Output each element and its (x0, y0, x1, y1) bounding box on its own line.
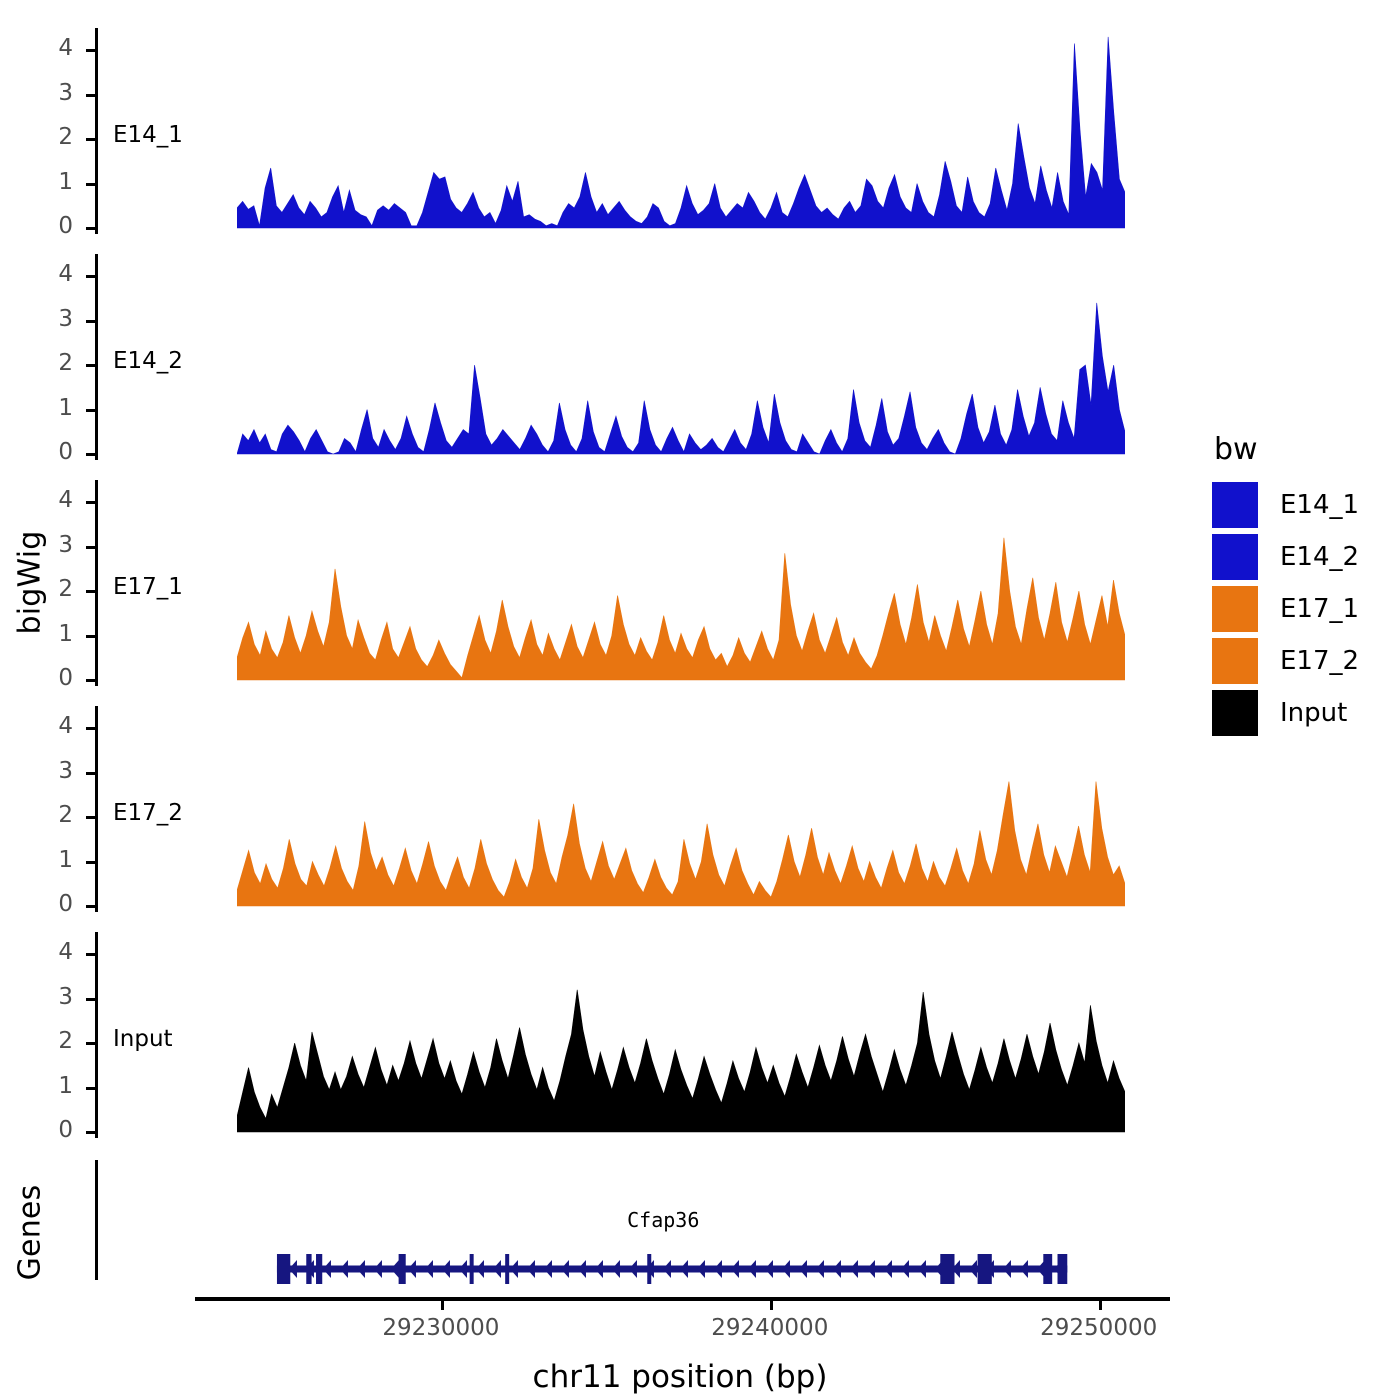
x-tick (770, 1301, 773, 1310)
y-tick-label: 0 (33, 439, 73, 465)
legend-label: Input (1280, 698, 1347, 728)
signal-area-e17_1[interactable] (237, 480, 1125, 682)
y-tick-label: 0 (33, 665, 73, 691)
signal-area-input[interactable] (237, 932, 1125, 1134)
genes-panel: Cfap36 (0, 1160, 1200, 1290)
y-tick (86, 275, 95, 278)
x-tick (1099, 1301, 1102, 1310)
y-tick-label: 4 (33, 713, 73, 739)
legend-swatch-e17_2 (1212, 638, 1258, 684)
y-tick (86, 409, 95, 412)
y-tick (86, 590, 95, 593)
y-tick-label: 4 (33, 939, 73, 965)
y-tick-label: 4 (33, 487, 73, 513)
x-axis-title: chr11 position (bp) (0, 1359, 1360, 1395)
legend-items: E14_1E14_2E17_1E17_2Input (1212, 481, 1359, 737)
x-axis-line (195, 1297, 1170, 1301)
y-tick-label: 2 (33, 576, 73, 602)
signal-area-e17_2[interactable] (237, 706, 1125, 908)
y-tick-label: 2 (33, 802, 73, 828)
y-tick-label: 2 (33, 1028, 73, 1054)
y-tick-label: 3 (33, 532, 73, 558)
legend-title: bw (1214, 432, 1359, 467)
legend-swatch-e14_1 (1212, 482, 1258, 528)
track-label-e14_2: E14_2 (113, 348, 183, 374)
genome-browser-figure: bigWig Genes 01234E14_101234E14_201234E1… (0, 0, 1400, 1400)
legend: bw E14_1E14_2E17_1E17_2Input (1212, 432, 1359, 741)
y-tick-label: 0 (33, 213, 73, 239)
track-label-e17_1: E17_1 (113, 574, 183, 600)
y-tick (86, 546, 95, 549)
legend-label: E17_2 (1280, 646, 1359, 676)
gene-model-track[interactable] (237, 1252, 1125, 1286)
y-tick-label: 1 (33, 395, 73, 421)
legend-swatch-e17_1 (1212, 586, 1258, 632)
y-tick (86, 364, 95, 367)
y-tick (86, 183, 95, 186)
y-tick-label: 3 (33, 80, 73, 106)
track-label-e17_2: E17_2 (113, 800, 183, 826)
y-tick (86, 227, 95, 230)
y-tick-label: 4 (33, 261, 73, 287)
y-tick-label: 2 (33, 124, 73, 150)
track-label-input: Input (113, 1026, 173, 1052)
legend-item-e14_1[interactable]: E14_1 (1212, 481, 1359, 529)
y-tick (86, 905, 95, 908)
legend-label: E14_2 (1280, 542, 1359, 572)
track-e17_1: 01234E17_1 (0, 480, 1200, 694)
legend-item-e17_2[interactable]: E17_2 (1212, 637, 1359, 685)
x-tick-label: 29240000 (711, 1315, 828, 1341)
x-tick-label: 29250000 (1040, 1315, 1157, 1341)
track-e14_2: 01234E14_2 (0, 254, 1200, 468)
y-tick (86, 727, 95, 730)
y-tick-label: 2 (33, 350, 73, 376)
genes-axis-line (95, 1160, 98, 1280)
y-tick (86, 953, 95, 956)
legend-item-e17_1[interactable]: E17_1 (1212, 585, 1359, 633)
y-tick (86, 1042, 95, 1045)
y-tick (86, 138, 95, 141)
y-axis-line (95, 28, 98, 234)
x-tick-label: 29230000 (382, 1315, 499, 1341)
y-axis-line (95, 706, 98, 912)
track-label-e14_1: E14_1 (113, 122, 183, 148)
y-tick (86, 861, 95, 864)
y-axis-line (95, 480, 98, 686)
y-tick-label: 1 (33, 1073, 73, 1099)
y-tick (86, 635, 95, 638)
y-tick (86, 453, 95, 456)
track-e17_2: 01234E17_2 (0, 706, 1200, 920)
legend-swatch-e14_2 (1212, 534, 1258, 580)
y-tick (86, 501, 95, 504)
y-tick-label: 1 (33, 847, 73, 873)
signal-area-e14_1[interactable] (237, 28, 1125, 230)
y-tick-label: 0 (33, 1117, 73, 1143)
y-tick (86, 1131, 95, 1134)
y-tick-label: 3 (33, 758, 73, 784)
legend-label: E14_1 (1280, 490, 1359, 520)
track-input: 01234Input (0, 932, 1200, 1146)
y-tick (86, 1087, 95, 1090)
y-tick-label: 3 (33, 306, 73, 332)
y-tick (86, 679, 95, 682)
y-tick-label: 4 (33, 35, 73, 61)
x-tick (441, 1301, 444, 1310)
y-tick (86, 94, 95, 97)
track-e14_1: 01234E14_1 (0, 28, 1200, 242)
gene-name-label: Cfap36 (627, 1208, 699, 1232)
y-tick-label: 3 (33, 984, 73, 1010)
y-tick (86, 998, 95, 1001)
y-tick (86, 816, 95, 819)
y-tick (86, 49, 95, 52)
legend-item-input[interactable]: Input (1212, 689, 1359, 737)
y-tick (86, 772, 95, 775)
signal-area-e14_2[interactable] (237, 254, 1125, 456)
legend-label: E17_1 (1280, 594, 1359, 624)
y-tick-label: 1 (33, 169, 73, 195)
y-axis-line (95, 254, 98, 460)
legend-item-e14_2[interactable]: E14_2 (1212, 533, 1359, 581)
y-tick-label: 1 (33, 621, 73, 647)
y-tick (86, 320, 95, 323)
legend-swatch-input (1212, 690, 1258, 736)
y-tick-label: 0 (33, 891, 73, 917)
y-axis-line (95, 932, 98, 1138)
